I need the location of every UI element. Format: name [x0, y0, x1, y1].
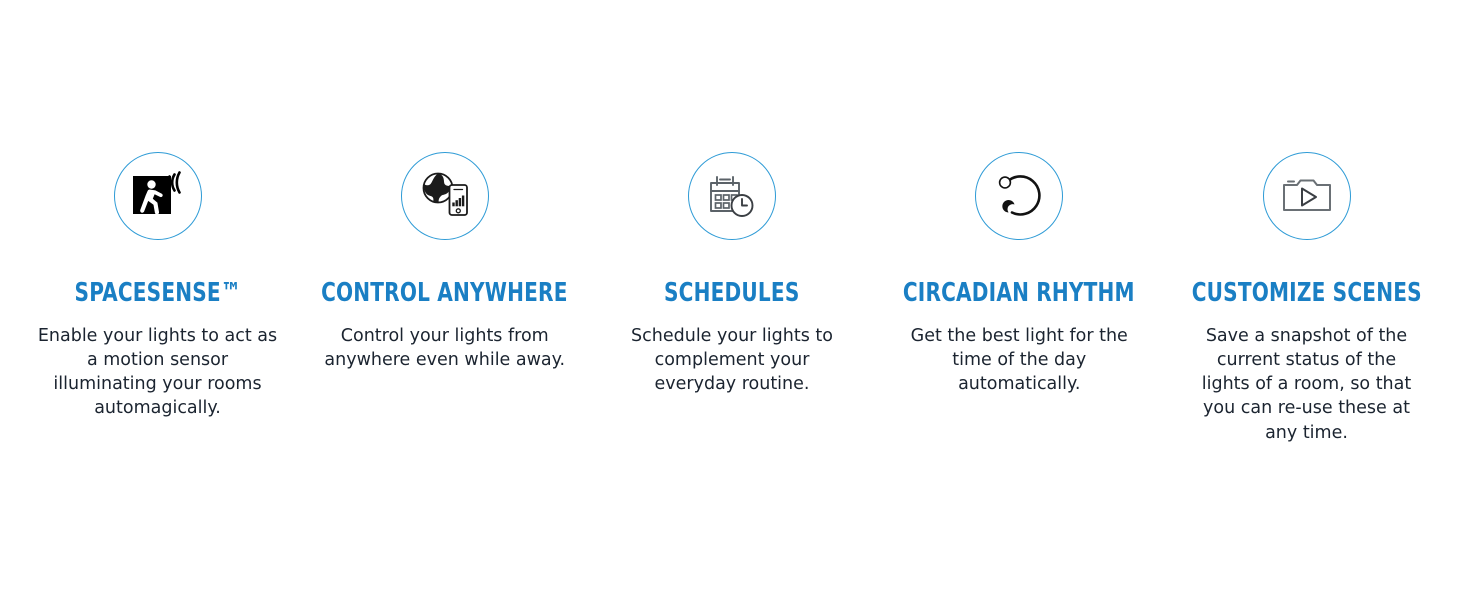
globe-phone-icon — [419, 171, 471, 221]
icon-ring — [114, 152, 202, 240]
feature-title: SCHEDULES — [664, 280, 799, 306]
feature-title: CONTROL ANYWHERE — [321, 280, 568, 306]
features-section: SPACESENSE™ Enable your lights to act as… — [0, 0, 1464, 600]
feature-card-customize-scenes[interactable]: CUSTOMIZE SCENES Save a snapshot of the … — [1163, 152, 1450, 445]
feature-card-spacesense[interactable]: SPACESENSE™ Enable your lights to act as… — [14, 152, 301, 421]
feature-title: SPACESENSE™ — [74, 280, 241, 306]
feature-title: CIRCADIAN RHYTHM — [903, 280, 1135, 306]
feature-description: Get the best light for the time of the d… — [906, 324, 1132, 396]
feature-description: Control your lights from anywhere even w… — [312, 324, 578, 372]
sun-moon-cycle-icon — [993, 171, 1045, 221]
feature-card-schedules[interactable]: SCHEDULES Schedule your lights to comple… — [589, 152, 876, 396]
feature-description: Schedule your lights to complement your … — [626, 324, 838, 396]
icon-ring — [401, 152, 489, 240]
feature-card-circadian-rhythm[interactable]: CIRCADIAN RHYTHM Get the best light for … — [876, 152, 1163, 396]
feature-title: CUSTOMIZE SCENES — [1191, 280, 1421, 306]
feature-description: Save a snapshot of the current status of… — [1194, 324, 1420, 445]
calendar-clock-icon — [706, 171, 758, 221]
features-row: SPACESENSE™ Enable your lights to act as… — [14, 152, 1450, 445]
camera-play-icon — [1281, 172, 1333, 220]
feature-description: Enable your lights to act as a motion se… — [38, 324, 278, 421]
motion-sensor-icon — [132, 171, 184, 221]
icon-ring — [688, 152, 776, 240]
icon-ring — [1263, 152, 1351, 240]
icon-ring — [975, 152, 1063, 240]
feature-card-control-anywhere[interactable]: CONTROL ANYWHERE Control your lights fro… — [301, 152, 588, 372]
